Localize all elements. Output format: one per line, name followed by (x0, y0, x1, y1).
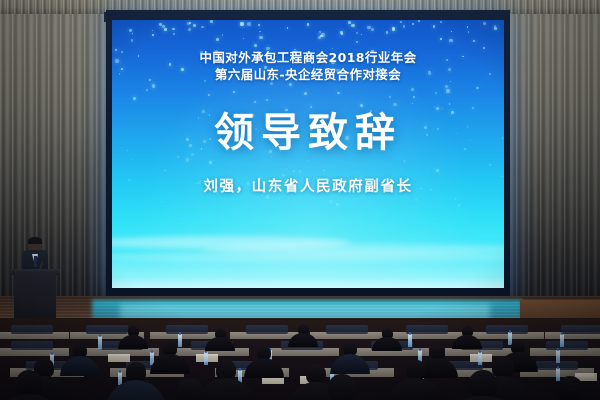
slide-text-block: 中国对外承包工程商会2018行业年会 第六届山东-央企经贸合作对接会 领导致辞 … (112, 20, 504, 288)
conference-hall-photo: 中国对外承包工程商会2018行业年会 第六届山东-央企经贸合作对接会 领导致辞 … (0, 0, 600, 400)
audience-head (216, 360, 236, 380)
chair-back (486, 325, 528, 334)
chair-back (326, 325, 368, 334)
water-bottle (178, 334, 182, 347)
audience-head (306, 364, 326, 384)
audience-shoulders (386, 378, 446, 400)
audience-area (0, 318, 600, 400)
chair-back (86, 325, 128, 334)
water-bottle (478, 352, 482, 365)
audience-head (557, 376, 583, 400)
table-name-card (108, 354, 130, 362)
audience-head (492, 356, 514, 378)
chair-back (546, 341, 588, 350)
water-bottle (560, 334, 564, 347)
speaker-tie (34, 256, 37, 267)
audience-shoulders (205, 337, 235, 351)
chair-back (11, 341, 53, 350)
slide-header-line-2: 第六届山东-央企经贸合作对接会 (112, 67, 504, 83)
led-screen: 中国对外承包工程商会2018行业年会 第六届山东-央企经贸合作对接会 领导致辞 … (112, 20, 504, 288)
slide-subtitle: 刘强，山东省人民政府副省长 (112, 175, 504, 196)
audience-head (177, 378, 203, 400)
water-bottle (408, 334, 412, 347)
audience-shoulders (330, 354, 370, 374)
audience-head (328, 374, 356, 400)
audience-head (126, 362, 146, 382)
slide-header-line-1: 中国对外承包工程商会2018行业年会 (112, 50, 504, 66)
water-bottle (98, 336, 102, 349)
water-bottle (204, 352, 208, 365)
audience-shoulders (60, 356, 100, 376)
audience-shoulders (196, 378, 256, 400)
chair-back (246, 325, 288, 334)
audience-shoulders (372, 337, 402, 351)
audience-shoulders (106, 380, 166, 400)
chair-back (561, 325, 600, 334)
audience-shoulders (150, 354, 190, 374)
slide-main-title: 领导致辞 (112, 110, 504, 156)
chair-back (406, 325, 448, 334)
chair-back (166, 325, 208, 334)
water-bottle (556, 350, 560, 363)
speaker-hair (28, 237, 42, 244)
audience-head (16, 370, 42, 396)
chair-back (11, 325, 53, 334)
audience-head (469, 370, 497, 398)
audience-head (406, 360, 426, 380)
